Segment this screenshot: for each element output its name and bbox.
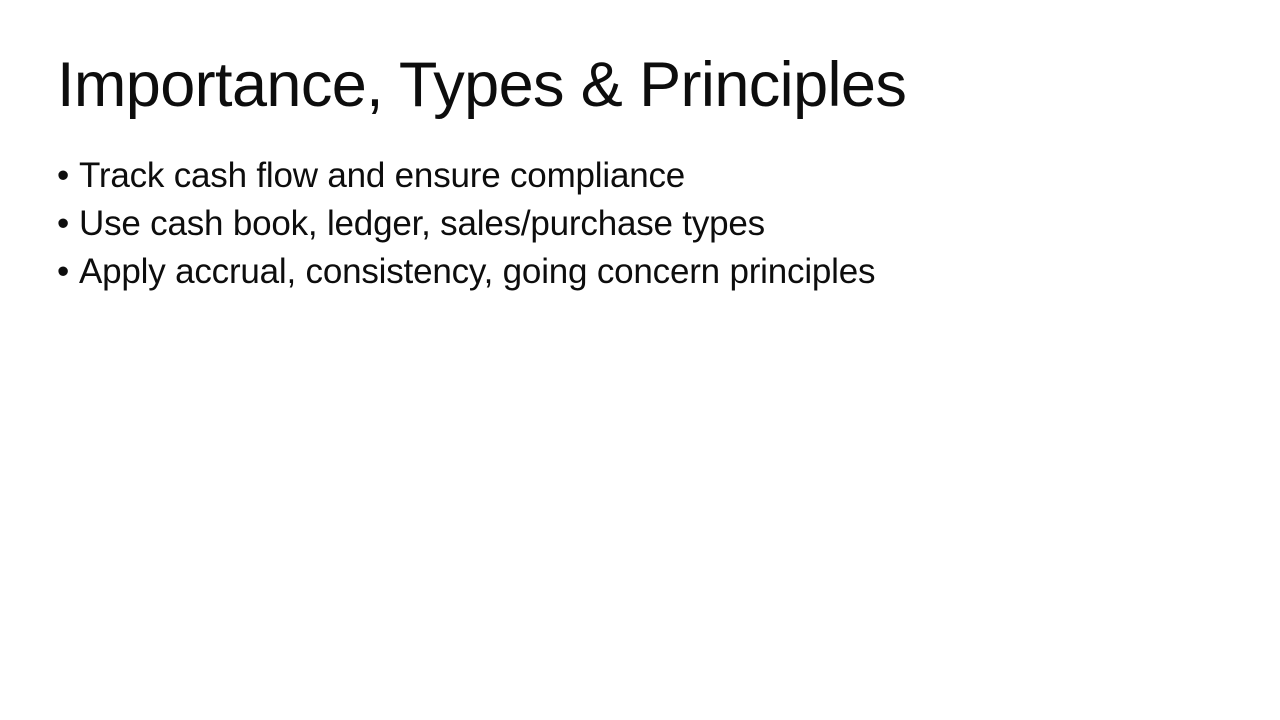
list-item-label: Use cash book, ledger, sales/purchase ty… bbox=[79, 200, 765, 248]
list-item: • Apply accrual, consistency, going conc… bbox=[57, 248, 1157, 296]
list-item: • Use cash book, ledger, sales/purchase … bbox=[57, 200, 1157, 248]
list-item-label: Apply accrual, consistency, going concer… bbox=[79, 248, 875, 296]
presentation-slide: Importance, Types & Principles • Track c… bbox=[0, 0, 1280, 720]
bullet-dot-icon: • bbox=[57, 152, 79, 200]
slide-title: Importance, Types & Principles bbox=[57, 50, 906, 121]
list-item-label: Track cash flow and ensure compliance bbox=[79, 152, 685, 200]
list-item: • Track cash flow and ensure compliance bbox=[57, 152, 1157, 200]
bullet-dot-icon: • bbox=[57, 248, 79, 296]
bullet-dot-icon: • bbox=[57, 200, 79, 248]
bullet-list: • Track cash flow and ensure compliance … bbox=[57, 152, 1157, 296]
